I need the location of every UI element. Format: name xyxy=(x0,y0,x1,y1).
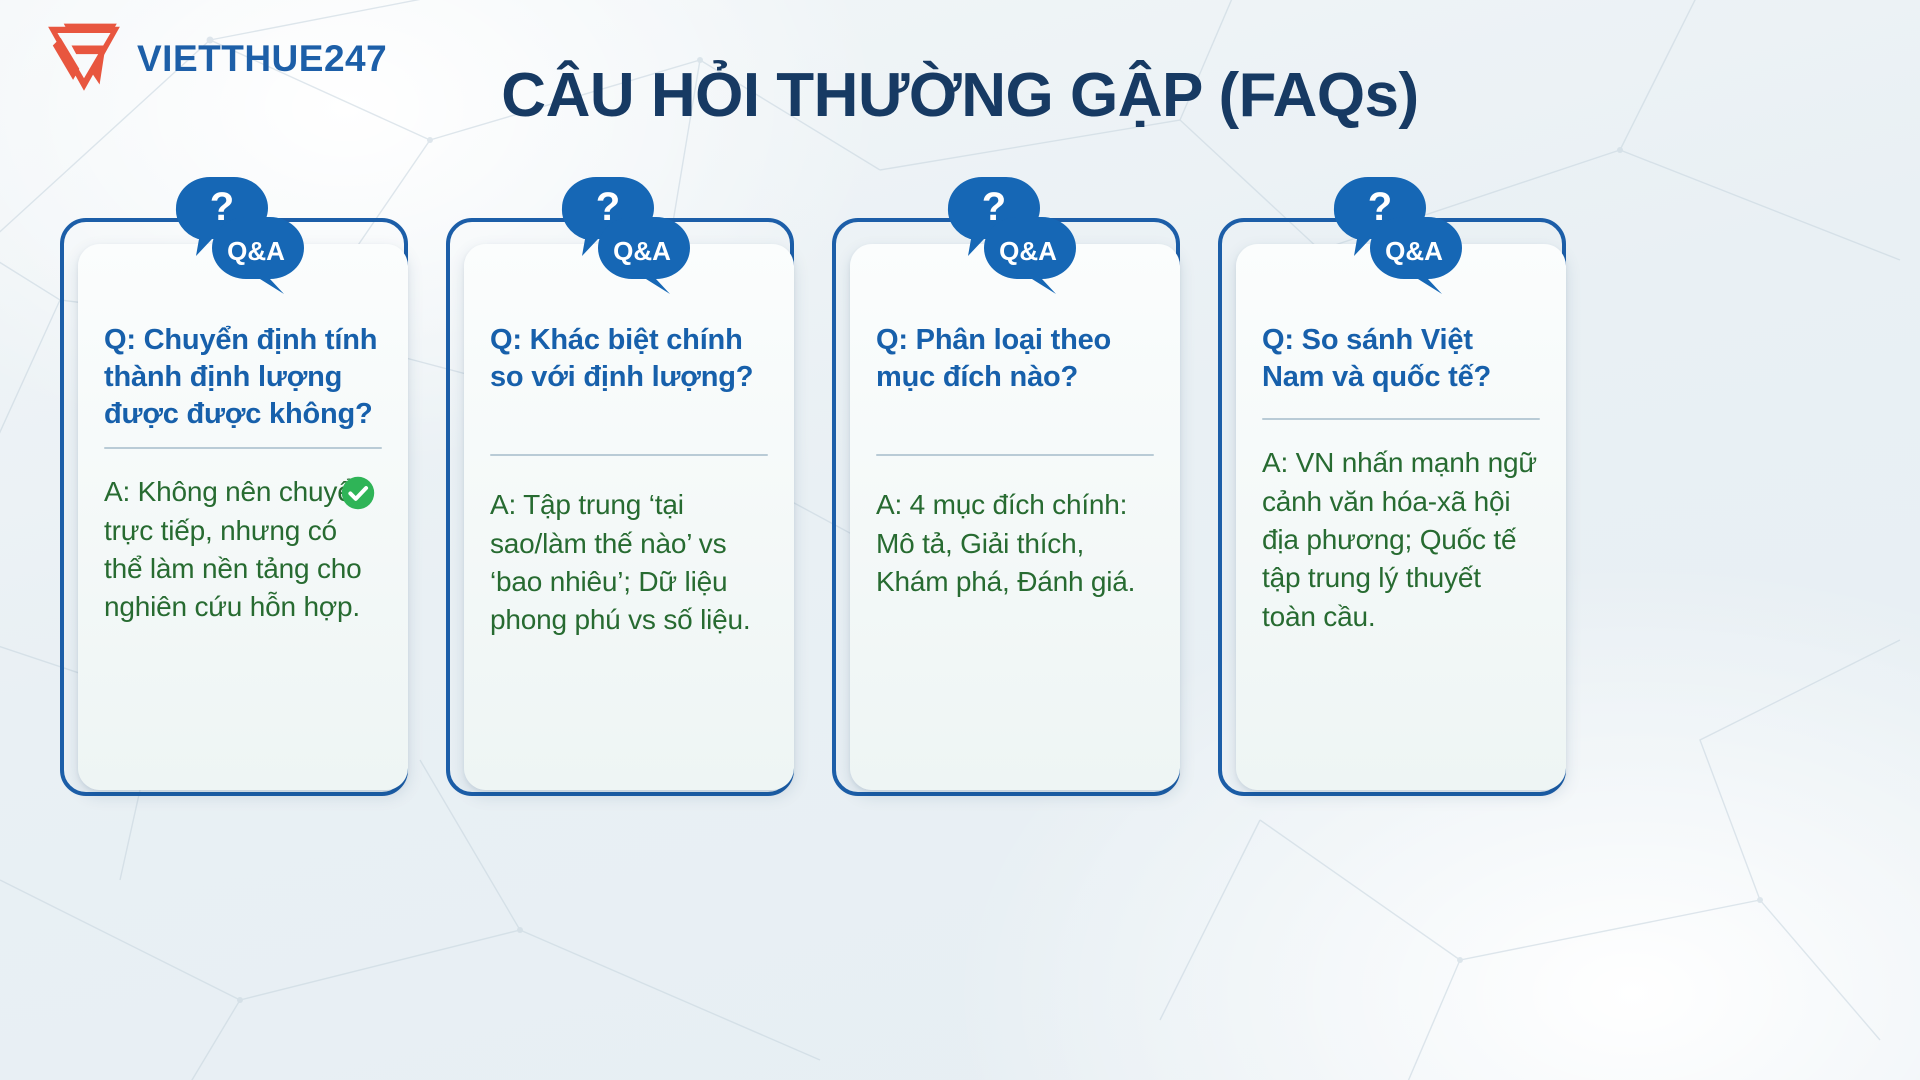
qa-bubble-label: Q&A xyxy=(613,236,671,266)
faq-answer-wrap: A: Không nên chuyển trực tiếp, nhưng có … xyxy=(104,473,382,626)
faq-card[interactable]: Q: Khác biệt chính so với định lượng? A:… xyxy=(446,218,808,796)
faq-card[interactable]: Q: Phân loại theo mục đích nào? A: 4 mục… xyxy=(832,218,1194,796)
qa-speech-bubble-icon: ? Q&A xyxy=(168,170,308,296)
faq-question: Q: Phân loại theo mục đích nào? xyxy=(876,322,1154,396)
card-surface: Q: Khác biệt chính so với định lượng? A:… xyxy=(464,244,794,790)
check-circle-icon xyxy=(340,475,376,511)
card-divider xyxy=(876,454,1154,456)
page-title: CÂU HỎI THƯỜNG GẬP (FAQs) xyxy=(0,60,1920,131)
card-divider xyxy=(1262,418,1540,420)
qa-bubble-label: Q&A xyxy=(227,236,285,266)
qa-bubble-label: Q&A xyxy=(1385,236,1443,266)
faq-card-list: Q: Chuyển định tính thành định lượng đượ… xyxy=(60,218,1860,798)
faq-answer: A: Không nên chuyển trực tiếp, nhưng có … xyxy=(104,476,368,622)
faq-answer: A: VN nhấn mạnh ngữ cảnh văn hóa-xã hội … xyxy=(1262,447,1537,631)
faq-answer: A: 4 mục đích chính: Mô tả, Giải thích, … xyxy=(876,489,1135,597)
faq-question: Q: Chuyển định tính thành định lượng đượ… xyxy=(104,322,382,433)
qa-bubble-label: Q&A xyxy=(999,236,1057,266)
qa-speech-bubble-icon: ? Q&A xyxy=(1326,170,1466,296)
faq-card[interactable]: Q: So sánh Việt Nam và quốc tế? A: VN nh… xyxy=(1218,218,1580,796)
faq-card[interactable]: Q: Chuyển định tính thành định lượng đượ… xyxy=(60,218,422,796)
card-surface: Q: Chuyển định tính thành định lượng đượ… xyxy=(78,244,408,790)
qa-speech-bubble-icon: ? Q&A xyxy=(554,170,694,296)
card-surface: Q: Phân loại theo mục đích nào? A: 4 mục… xyxy=(850,244,1180,790)
faq-question: Q: Khác biệt chính so với định lượng? xyxy=(490,322,768,396)
faq-answer-wrap: A: Tập trung ‘tại sao/làm thế nào’ vs ‘b… xyxy=(490,486,768,639)
faq-answer-wrap: A: VN nhấn mạnh ngữ cảnh văn hóa-xã hội … xyxy=(1262,444,1540,636)
card-surface: Q: So sánh Việt Nam và quốc tế? A: VN nh… xyxy=(1236,244,1566,790)
faq-answer: A: Tập trung ‘tại sao/làm thế nào’ vs ‘b… xyxy=(490,489,750,635)
card-divider xyxy=(490,454,768,456)
card-divider xyxy=(104,447,382,449)
faq-answer-wrap: A: 4 mục đích chính: Mô tả, Giải thích, … xyxy=(876,486,1154,601)
qa-speech-bubble-icon: ? Q&A xyxy=(940,170,1080,296)
faq-question: Q: So sánh Việt Nam và quốc tế? xyxy=(1262,322,1540,396)
